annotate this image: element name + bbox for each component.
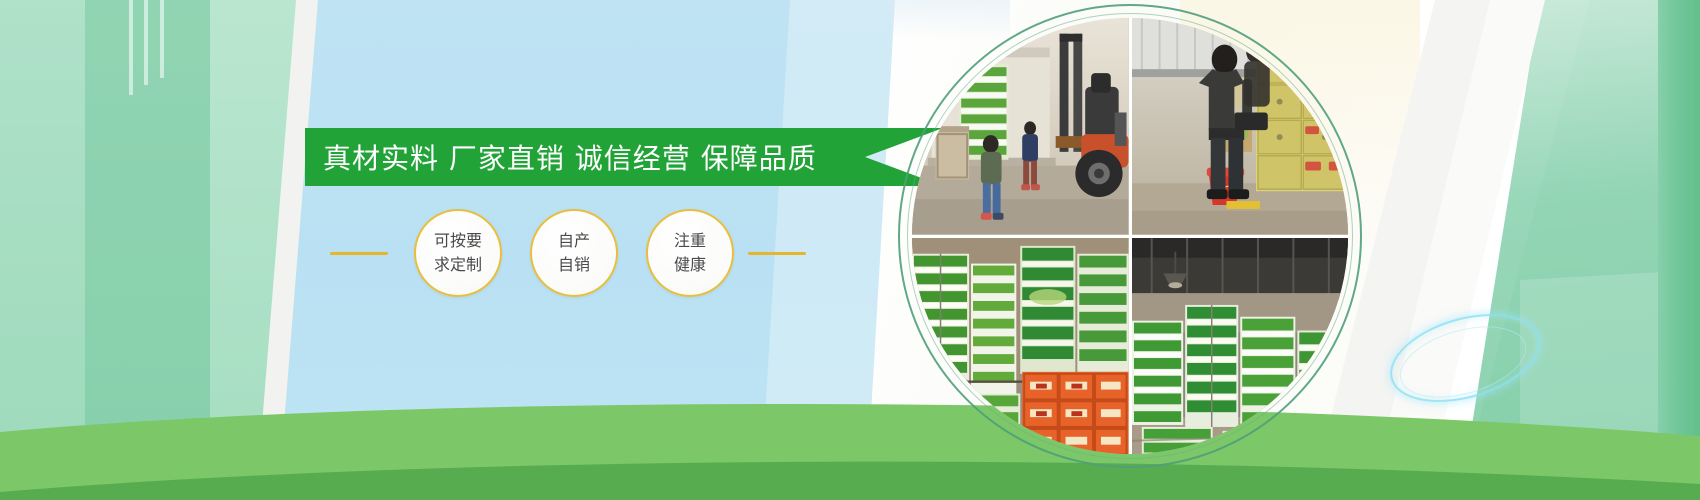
feature-badge-self-production[interactable]: 自产 自销 xyxy=(530,209,618,297)
slogan-text: 真材实料 厂家直销 诚信经营 保障品质 xyxy=(305,128,865,186)
badge-line-1: 自产 xyxy=(558,229,590,253)
photo-collage xyxy=(898,4,1362,468)
photo-forklift-loading xyxy=(912,18,1129,235)
promo-banner: 真材实料 厂家直销 诚信经营 保障品质 可按要 求定制 自产 自销 注重 健康 xyxy=(0,0,1700,500)
photo-stacked-green-boxes xyxy=(912,238,1129,455)
background-light-stripe-1 xyxy=(129,0,133,95)
feature-badge-row: 可按要 求定制 自产 自销 注重 健康 xyxy=(330,198,820,308)
background-light-stripe-3 xyxy=(160,0,164,78)
collage-grid xyxy=(912,18,1348,454)
badge-line-2: 自销 xyxy=(558,253,590,277)
photo-warehouse-stacks xyxy=(1132,238,1349,455)
decor-gold-line-right xyxy=(748,252,806,255)
badge-line-1: 注重 xyxy=(674,229,706,253)
badge-line-2: 求定制 xyxy=(434,253,482,277)
slogan-ribbon: 真材实料 厂家直销 诚信经营 保障品质 xyxy=(305,128,943,186)
feature-badge-customization[interactable]: 可按要 求定制 xyxy=(414,209,502,297)
photo-worker-containers xyxy=(1132,18,1349,235)
decor-bottom-hill xyxy=(0,380,1700,500)
badge-line-2: 健康 xyxy=(674,253,706,277)
background-light-stripe-2 xyxy=(144,0,148,85)
badge-line-1: 可按要 xyxy=(434,229,482,253)
decor-gold-line-left xyxy=(330,252,388,255)
feature-badge-health-focus[interactable]: 注重 健康 xyxy=(646,209,734,297)
